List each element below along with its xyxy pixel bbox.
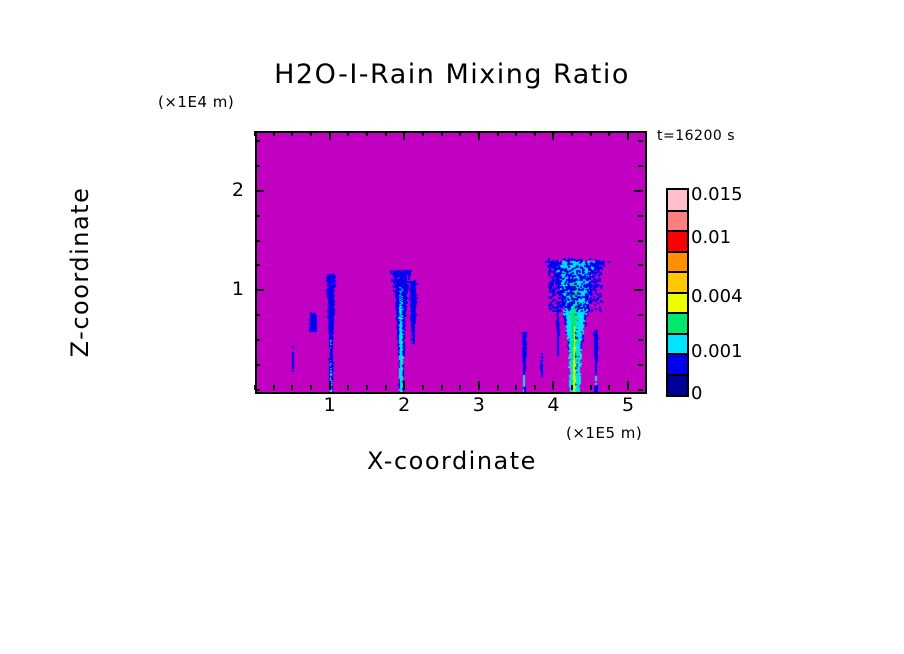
axis-tick-top	[590, 131, 592, 136]
axis-tick-left	[255, 240, 260, 242]
axis-tick-top	[403, 131, 405, 140]
axis-tick-bottom	[459, 385, 461, 390]
axis-tick-right	[638, 314, 643, 316]
axis-tick-bottom	[515, 385, 517, 390]
axis-tick-top	[273, 131, 275, 136]
axis-tick-left	[255, 289, 264, 291]
colorbar-segment	[668, 231, 687, 252]
axis-tick-top	[254, 131, 256, 136]
colorbar-segment	[668, 190, 687, 211]
axis-tick-right	[638, 264, 643, 266]
y-tick-label: 2	[218, 179, 244, 201]
axis-tick-left	[255, 215, 260, 217]
axis-tick-top	[366, 131, 368, 136]
colorbar	[666, 188, 689, 397]
axis-tick-top	[497, 131, 499, 136]
axis-tick-bottom	[590, 385, 592, 390]
axis-tick-bottom	[403, 381, 405, 390]
axis-tick-left	[255, 165, 260, 167]
colorbar-tick-label: 0.001	[691, 341, 743, 362]
axis-tick-top	[441, 131, 443, 136]
axis-tick-right	[638, 364, 643, 366]
axis-tick-right	[638, 140, 643, 142]
axis-tick-bottom	[571, 385, 573, 390]
axis-tick-bottom	[627, 381, 629, 390]
axis-tick-bottom	[422, 385, 424, 390]
figure-root: H2O-I-Rain Mixing Ratio (×1E4 m) t=16200…	[0, 0, 904, 654]
axis-tick-bottom	[534, 385, 536, 390]
colorbar-divider	[668, 292, 687, 294]
axis-tick-left	[255, 264, 260, 266]
colorbar-segment	[668, 354, 687, 375]
colorbar-tick-label: 0	[691, 383, 702, 404]
colorbar-segment	[668, 375, 687, 396]
colorbar-tick-label: 0.015	[691, 184, 743, 205]
axis-tick-left	[255, 339, 260, 341]
colorbar-segment	[668, 293, 687, 314]
axis-tick-right	[638, 240, 643, 242]
axis-tick-top	[478, 131, 480, 140]
colorbar-divider	[668, 353, 687, 355]
axis-tick-bottom	[366, 385, 368, 390]
axis-tick-bottom	[552, 381, 554, 390]
colorbar-segment	[668, 334, 687, 355]
axis-tick-top	[627, 131, 629, 140]
axis-tick-right	[634, 289, 643, 291]
colorbar-divider	[668, 251, 687, 253]
axis-tick-right	[634, 190, 643, 192]
colorbar-segment	[668, 313, 687, 334]
colorbar-divider	[668, 271, 687, 273]
axis-tick-top	[422, 131, 424, 136]
axis-tick-right	[638, 339, 643, 341]
colorbar-segment	[668, 211, 687, 232]
time-annotation: t=16200 s	[657, 128, 735, 144]
axis-tick-top	[571, 131, 573, 136]
colorbar-divider	[668, 374, 687, 376]
colorbar-divider	[668, 230, 687, 232]
x-tick-label: 1	[315, 394, 345, 416]
axis-tick-top	[347, 131, 349, 136]
axis-tick-bottom	[441, 385, 443, 390]
axis-tick-bottom	[291, 385, 293, 390]
axis-tick-bottom	[385, 385, 387, 390]
axis-tick-left	[255, 364, 260, 366]
axis-tick-bottom	[329, 381, 331, 390]
axis-tick-left	[255, 389, 260, 391]
axis-tick-top	[291, 131, 293, 136]
axis-tick-bottom	[347, 385, 349, 390]
x-axis-title: X-coordinate	[0, 447, 904, 475]
axis-tick-right	[638, 165, 643, 167]
y-axis-unit-label: (×1E4 m)	[158, 93, 234, 111]
x-tick-label: 3	[464, 394, 494, 416]
axis-tick-left	[255, 314, 260, 316]
x-tick-label: 4	[538, 394, 568, 416]
axis-tick-bottom	[273, 385, 275, 390]
colorbar-segment	[668, 272, 687, 293]
colorbar-divider	[668, 333, 687, 335]
plot-area	[255, 131, 647, 394]
axis-tick-top	[329, 131, 331, 140]
axis-tick-left	[255, 190, 264, 192]
axis-tick-right	[638, 215, 643, 217]
x-tick-label: 2	[389, 394, 419, 416]
page-title: H2O-I-Rain Mixing Ratio	[0, 59, 904, 90]
axis-tick-bottom	[608, 385, 610, 390]
heatmap-canvas	[257, 133, 645, 392]
colorbar-segment	[668, 252, 687, 273]
axis-tick-top	[608, 131, 610, 136]
y-tick-label: 1	[218, 278, 244, 300]
axis-tick-top	[385, 131, 387, 136]
axis-tick-top	[534, 131, 536, 136]
colorbar-divider	[668, 312, 687, 314]
x-axis-unit-label: (×1E5 m)	[566, 424, 642, 442]
colorbar-tick-label: 0.004	[691, 286, 743, 307]
y-axis-title: Z-coordinate	[66, 172, 94, 372]
axis-tick-left	[255, 140, 260, 142]
axis-tick-right	[638, 389, 643, 391]
colorbar-tick-label: 0.01	[691, 227, 731, 248]
axis-tick-bottom	[497, 385, 499, 390]
axis-tick-bottom	[310, 385, 312, 390]
colorbar-divider	[668, 210, 687, 212]
axis-tick-top	[310, 131, 312, 136]
axis-tick-bottom	[478, 381, 480, 390]
axis-tick-top	[515, 131, 517, 136]
x-tick-label: 5	[613, 394, 643, 416]
axis-tick-top	[459, 131, 461, 136]
axis-tick-top	[552, 131, 554, 140]
